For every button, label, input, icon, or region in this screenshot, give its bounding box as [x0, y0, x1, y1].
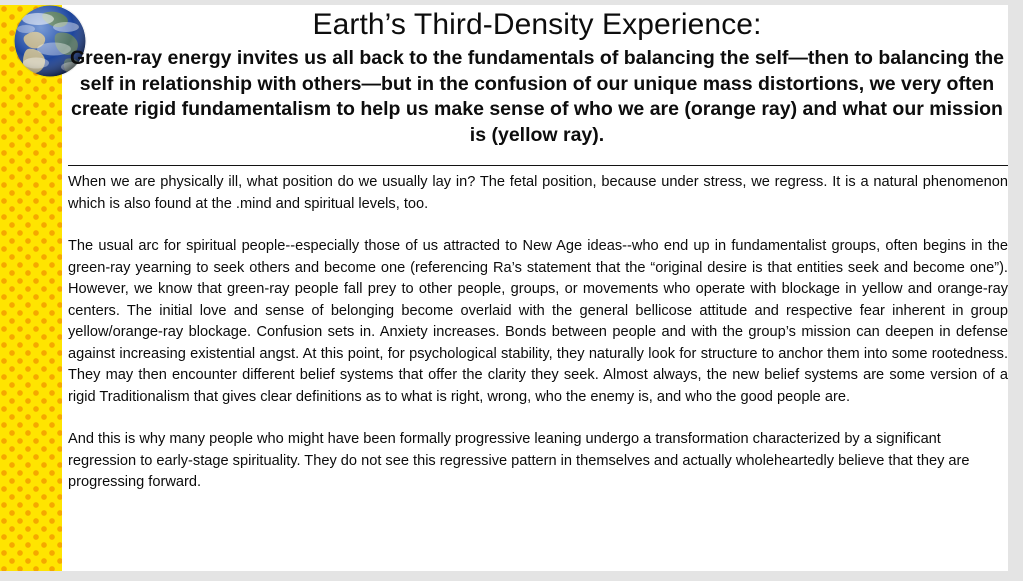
body-copy: When we are physically ill, what positio…: [68, 172, 1008, 494]
body-paragraph: And this is why many people who might ha…: [68, 429, 1008, 494]
page-title: Earth’s Third-Density Experience:: [66, 5, 1008, 43]
body-paragraph: The usual arc for spiritual people--espe…: [68, 236, 1008, 408]
subtitle-text: Green-ray energy invites us all back to …: [66, 43, 1008, 148]
title-block: Earth’s Third-Density Experience: Green-…: [66, 5, 1008, 148]
slide-canvas: Earth’s Third-Density Experience: Green-…: [0, 5, 1008, 571]
body-paragraph: When we are physically ill, what positio…: [68, 172, 1008, 215]
yellow-dotted-decoration-band: [0, 5, 62, 571]
slide-root: Earth’s Third-Density Experience: Green-…: [0, 0, 1023, 581]
title-divider-rule: [68, 165, 1008, 166]
